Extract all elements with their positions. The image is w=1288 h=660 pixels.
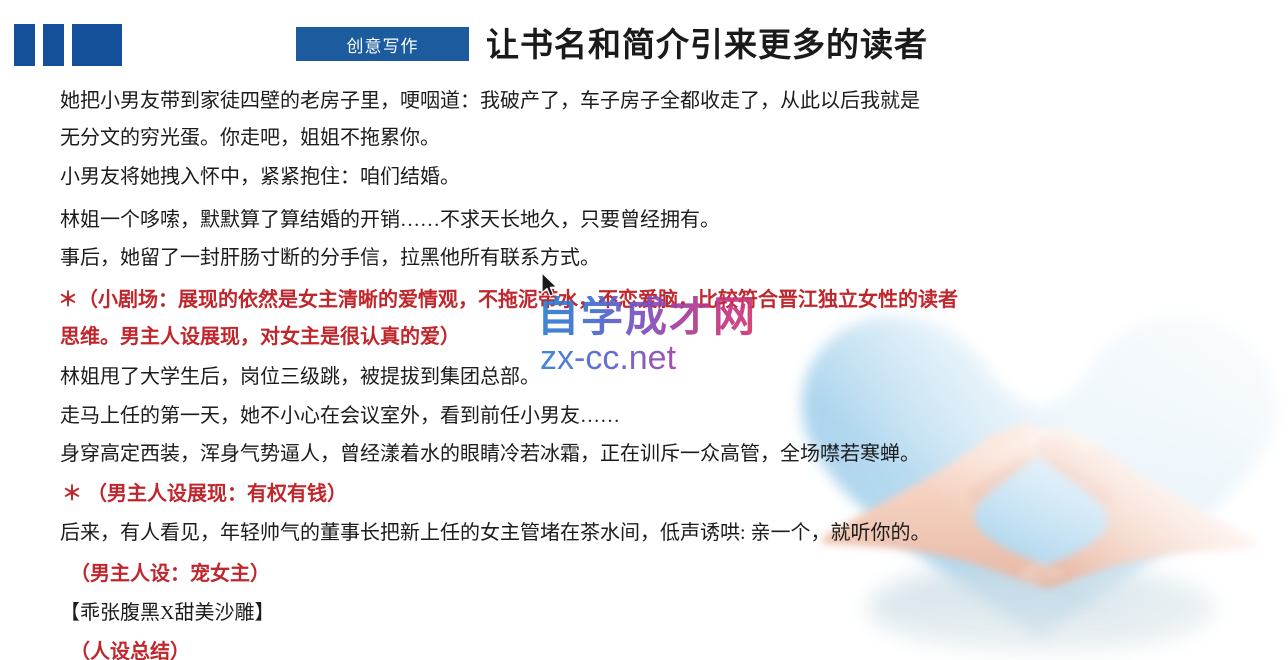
text-line: 事后，她留了一封肝肠寸断的分手信，拉黑他所有联系方式。 (60, 246, 600, 270)
text-line: 身穿高定西装，浑身气势逼人，曾经漾着水的眼睛冷若冰霜，正在训斥一众高管，全场噤若… (60, 442, 920, 466)
slide-canvas: 创意写作 让书名和简介引来更多的读者 她把小男友带到家徒四壁的老房子里，哽咽道：… (0, 0, 1288, 660)
body-text-block: 她把小男友带到家徒四壁的老房子里，哽咽道：我破产了，车子房子全都收走了，从此以后… (0, 0, 1288, 660)
text-line: 林姐一个哆嗦，默默算了算结婚的开销……不求天长地久，只要曾经拥有。 (60, 208, 720, 232)
text-line: ＊ （男主人设展现：有权有钱） (62, 482, 347, 506)
text-line: 思维。男主人设展现，对女主是很认真的爱） (60, 325, 460, 349)
text-line: 她把小男友带到家徒四壁的老房子里，哽咽道：我破产了，车子房子全都收走了，从此以后… (60, 89, 920, 113)
text-line: 小男友将她拽入怀中，紧紧抱住：咱们结婚。 (60, 165, 460, 189)
text-line: 后来，有人看见，年轻帅气的董事长把新上任的女主管堵在茶水间，低声诱哄: 亲一个，… (60, 521, 931, 545)
text-line: （人设总结） (70, 640, 190, 660)
text-line: 【乖张腹黑X甜美沙雕】 (60, 601, 274, 625)
text-line: 走马上任的第一天，她不小心在会议室外，看到前任小男友…… (60, 404, 620, 428)
text-line: （男主人设：宠女主） (70, 562, 270, 586)
text-line: 无分文的穷光蛋。你走吧，姐姐不拖累你。 (60, 126, 440, 150)
text-line: 林姐甩了大学生后，岗位三级跳，被提拔到集团总部。 (60, 365, 540, 389)
text-line: ＊（小剧场：展现的依然是女主清晰的爱情观，不拖泥带水，不恋爱脑，比较符合晋江独立… (58, 288, 958, 312)
